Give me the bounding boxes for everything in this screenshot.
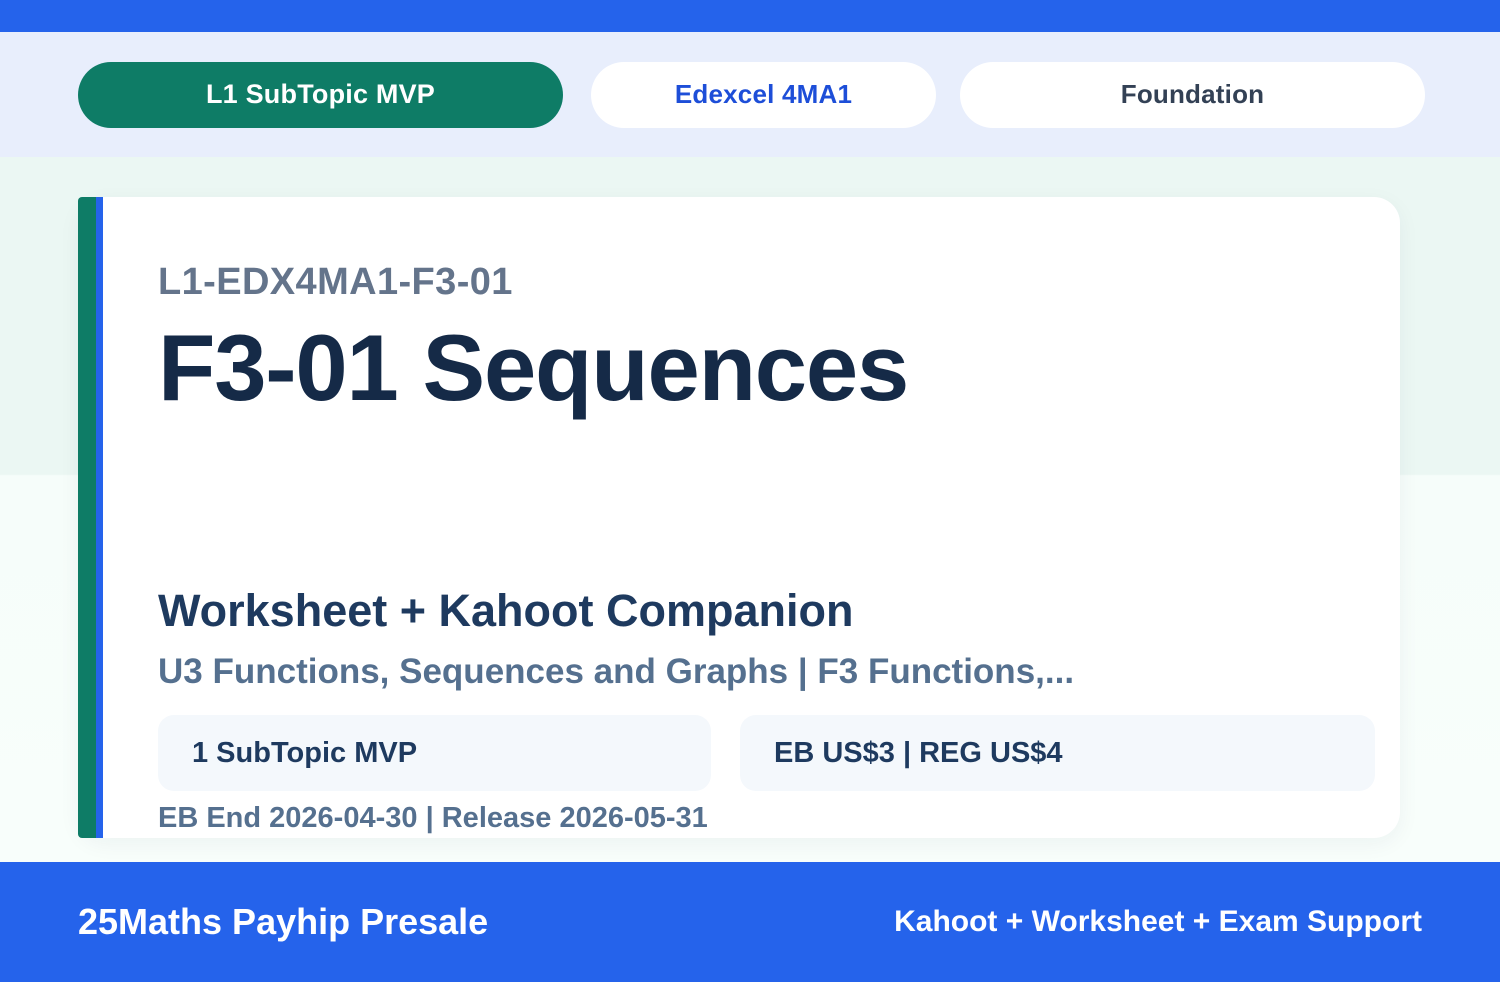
product-code: L1-EDX4MA1-F3-01 [158, 261, 513, 304]
presale-poster: L1 SubTopic MVP Edexcel 4MA1 Foundation … [0, 0, 1500, 982]
footer-brand: 25Maths Payhip Presale [78, 901, 488, 943]
card-content: L1-EDX4MA1-F3-01 F3-01 Sequences Workshe… [158, 197, 1370, 838]
page-title: F3-01 Sequences [158, 317, 908, 419]
card-accent-bar-teal [78, 197, 96, 838]
header-chip-band: L1 SubTopic MVP Edexcel 4MA1 Foundation [0, 32, 1500, 157]
chip-tier[interactable]: Foundation [960, 62, 1425, 128]
badge-row: 1 SubTopic MVP EB US$3 | REG US$4 [158, 715, 1373, 791]
top-accent-strip [0, 0, 1500, 32]
card-accent-bar-blue [96, 197, 103, 838]
footer-tagline: Kahoot + Worksheet + Exam Support [894, 905, 1422, 939]
product-card: L1-EDX4MA1-F3-01 F3-01 Sequences Workshe… [78, 197, 1400, 838]
product-subtitle: Worksheet + Kahoot Companion [158, 585, 853, 637]
dates-line: EB End 2026-04-30 | Release 2026-05-31 [158, 802, 708, 835]
chip-exam-board[interactable]: Edexcel 4MA1 [591, 62, 936, 128]
footer-bar: 25Maths Payhip Presale Kahoot + Workshee… [0, 862, 1500, 982]
status-badge-scope: 1 SubTopic MVP [158, 715, 711, 791]
chip-level[interactable]: L1 SubTopic MVP [78, 62, 563, 128]
status-badge-price: EB US$3 | REG US$4 [740, 715, 1375, 791]
breadcrumb: U3 Functions, Sequences and Graphs | F3 … [158, 652, 1074, 692]
